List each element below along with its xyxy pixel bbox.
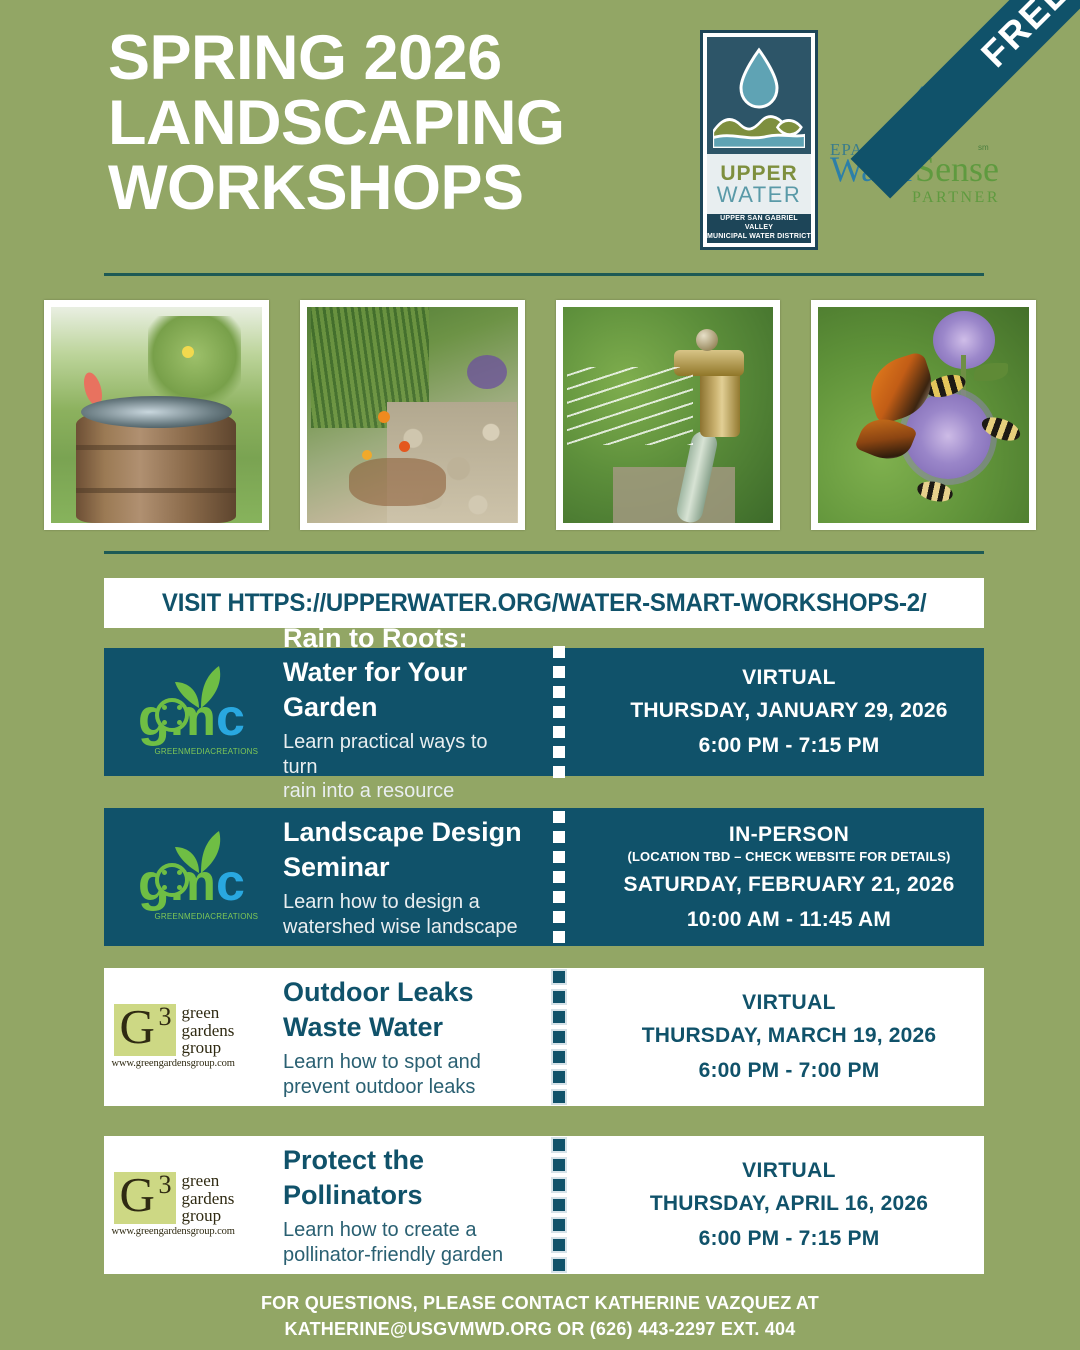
dotted-separator [524, 808, 594, 946]
workshop-info: Outdoor Leaks Waste Water Learn how to s… [279, 968, 524, 1106]
g3-exponent: 3 [159, 1002, 172, 1032]
g3-word-group: group [182, 1207, 235, 1225]
upper-water-logo: UPPER WATER UPPER SAN GABRIEL VALLEY MUN… [700, 30, 818, 250]
workshop-desc-line-2: watershed wise landscape [283, 915, 524, 939]
district-line-2: MUNICIPAL WATER DISTRICT [707, 233, 811, 242]
dotted-separator [524, 968, 594, 1106]
workshop-title-line-2: Pollinators [283, 1178, 524, 1213]
dotted-separator [524, 648, 594, 776]
workshop-title-line-2: Seminar [283, 850, 524, 885]
g3-word-group: group [182, 1039, 235, 1057]
g3-word-gardens: gardens [182, 1190, 235, 1208]
divider-bottom [104, 551, 984, 554]
workshop-title-line-1: Outdoor Leaks [283, 975, 524, 1010]
workshop-location-note: (LOCATION TBD – CHECK WEBSITE FOR DETAIL… [628, 849, 951, 864]
workshop-mode: IN-PERSON [729, 823, 849, 847]
workshop-row[interactable]: gmc GREENMEDIACREATIONS Landscape Design… [104, 808, 984, 946]
workshop-time: 6:00 PM - 7:15 PM [699, 734, 880, 758]
workshop-time: 10:00 AM - 11:45 AM [687, 908, 891, 932]
workshop-row[interactable]: G 3 green gardens group www.greengardens… [104, 1136, 984, 1274]
workshop-title-line-2: Waste Water [283, 1010, 524, 1045]
g3-exponent: 3 [159, 1170, 172, 1200]
green-media-creations-logo: gmc GREENMEDIACREATIONS [133, 831, 251, 923]
workshop-time: 6:00 PM - 7:00 PM [699, 1059, 880, 1083]
workshop-row[interactable]: G 3 green gardens group www.greengardens… [104, 968, 984, 1106]
g3-word-gardens: gardens [182, 1022, 235, 1040]
district-line-1: UPPER SAN GABRIEL VALLEY [707, 215, 811, 233]
workshop-schedule: IN-PERSON (LOCATION TBD – CHECK WEBSITE … [594, 808, 984, 946]
contact-line-2: KATHERINE@USGVMWD.ORG OR (626) 443-2297 … [0, 1316, 1080, 1342]
workshop-desc-line-2: rain into a resource [283, 779, 524, 803]
workshop-info: Rain to Roots: Water for Your Garden Lea… [279, 648, 524, 776]
divider-top [104, 273, 984, 276]
green-media-creations-logo: gmc GREENMEDIACREATIONS [133, 666, 251, 758]
upper-water-subtitle: UPPER SAN GABRIEL VALLEY MUNICIPAL WATER… [707, 214, 811, 243]
workshop-schedule: VIRTUAL THURSDAY, JANUARY 29, 2026 6:00 … [594, 648, 984, 776]
workshop-info: Protect the Pollinators Learn how to cre… [279, 1136, 524, 1274]
workshop-desc-line-2: pollinator-friendly garden [283, 1243, 524, 1267]
photo-gravel-garden [300, 300, 525, 530]
g3-url: www.greengardensgroup.com [112, 1226, 235, 1237]
film-reel-icon [155, 698, 189, 732]
title-line-3: WORKSHOPS [108, 156, 708, 221]
workshop-description: Learn how to design a watershed wise lan… [283, 890, 524, 939]
title-line-2: LANDSCAPING [108, 91, 708, 156]
g3-url: www.greengardensgroup.com [112, 1058, 235, 1069]
dotted-separator [524, 1136, 594, 1274]
provider-logo-cell: G 3 green gardens group www.greengardens… [104, 968, 279, 1106]
gmc-tagline: GREENMEDIACREATIONS [155, 747, 251, 756]
hills-icon [713, 102, 805, 148]
workshop-date: SATURDAY, FEBRUARY 21, 2026 [623, 873, 954, 897]
photo-rain-barrel [44, 300, 269, 530]
water-droplet-icon [707, 37, 811, 154]
title-line-1: SPRING 2026 [108, 26, 708, 91]
workshop-title: Rain to Roots: Water for Your Garden [283, 621, 524, 725]
workshop-schedule: VIRTUAL THURSDAY, APRIL 16, 2026 6:00 PM… [594, 1136, 984, 1274]
poster-header: SPRING 2026 LANDSCAPING WORKSHOPS UPPER … [0, 0, 1080, 275]
g3-word-green: green [182, 1004, 235, 1022]
watersense-sm-mark: sm [978, 143, 989, 152]
workshop-mode: VIRTUAL [742, 991, 836, 1015]
workshop-description: Learn how to create a pollinator-friendl… [283, 1218, 524, 1267]
workshop-info: Landscape Design Seminar Learn how to de… [279, 808, 524, 946]
green-gardens-group-logo: G 3 green gardens group www.greengardens… [112, 1168, 272, 1242]
gmc-c: c [216, 689, 245, 747]
workshop-date: THURSDAY, JANUARY 29, 2026 [630, 699, 947, 723]
free-badge-label: FREE [973, 0, 1078, 76]
workshop-title-line-1: Protect the [283, 1143, 524, 1178]
workshop-title: Protect the Pollinators [283, 1143, 524, 1212]
workshop-date: THURSDAY, APRIL 16, 2026 [650, 1192, 928, 1216]
workshop-title: Landscape Design Seminar [283, 815, 524, 884]
contact-line-1: FOR QUESTIONS, PLEASE CONTACT KATHERINE … [0, 1290, 1080, 1316]
watersense-partner-label: PARTNER [912, 189, 1000, 207]
provider-logo-cell: gmc GREENMEDIACREATIONS [104, 648, 279, 776]
provider-logo-cell: G 3 green gardens group www.greengardens… [104, 1136, 279, 1274]
workshop-desc-line-1: Learn how to create a [283, 1218, 524, 1242]
workshop-description: Learn how to spot and prevent outdoor le… [283, 1050, 524, 1099]
workshop-title: Outdoor Leaks Waste Water [283, 975, 524, 1044]
provider-logo-cell: gmc GREENMEDIACREATIONS [104, 808, 279, 946]
gmc-c: c [216, 854, 245, 912]
website-url-text[interactable]: VISIT HTTPS://UPPERWATER.ORG/WATER-SMART… [162, 589, 927, 618]
workshop-title-line-1: Rain to Roots: [283, 621, 524, 656]
film-reel-icon [155, 863, 189, 897]
photo-strip [44, 300, 1036, 530]
g3-words: green gardens group [182, 1172, 235, 1225]
workshop-title-line-1: Landscape Design [283, 815, 524, 850]
photo-spigot-leak [556, 300, 781, 530]
workshop-time: 6:00 PM - 7:15 PM [699, 1227, 880, 1251]
workshop-schedule: VIRTUAL THURSDAY, MARCH 19, 2026 6:00 PM… [594, 968, 984, 1106]
workshop-title-line-2: Water for Your Garden [283, 655, 524, 724]
photo-pollinators [811, 300, 1036, 530]
workshop-desc-line-1: Learn how to spot and [283, 1050, 524, 1074]
workshop-desc-line-1: Learn practical ways to turn [283, 730, 524, 779]
contact-footer: FOR QUESTIONS, PLEASE CONTACT KATHERINE … [0, 1290, 1080, 1342]
gmc-tagline: GREENMEDIACREATIONS [155, 912, 251, 921]
workshop-mode: VIRTUAL [742, 666, 836, 690]
g3-words: green gardens group [182, 1004, 235, 1057]
upper-water-wordmark: UPPER WATER [707, 154, 811, 214]
website-url-bar[interactable]: VISIT HTTPS://UPPERWATER.ORG/WATER-SMART… [104, 578, 984, 628]
workshop-desc-line-2: prevent outdoor leaks [283, 1075, 524, 1099]
workshop-row[interactable]: gmc GREENMEDIACREATIONS Rain to Roots: W… [104, 648, 984, 776]
workshop-mode: VIRTUAL [742, 1159, 836, 1183]
upper-water-word-top: UPPER [720, 163, 797, 184]
workshop-desc-line-1: Learn how to design a [283, 890, 524, 914]
g3-letter: G [120, 1002, 155, 1051]
workshop-description: Learn practical ways to turn rain into a… [283, 730, 524, 803]
page-title: SPRING 2026 LANDSCAPING WORKSHOPS [108, 26, 708, 221]
g3-word-green: green [182, 1172, 235, 1190]
workshop-date: THURSDAY, MARCH 19, 2026 [642, 1024, 937, 1048]
g3-letter: G [120, 1170, 155, 1219]
upper-water-word-bottom: WATER [717, 184, 802, 206]
green-gardens-group-logo: G 3 green gardens group www.greengardens… [112, 1000, 272, 1074]
